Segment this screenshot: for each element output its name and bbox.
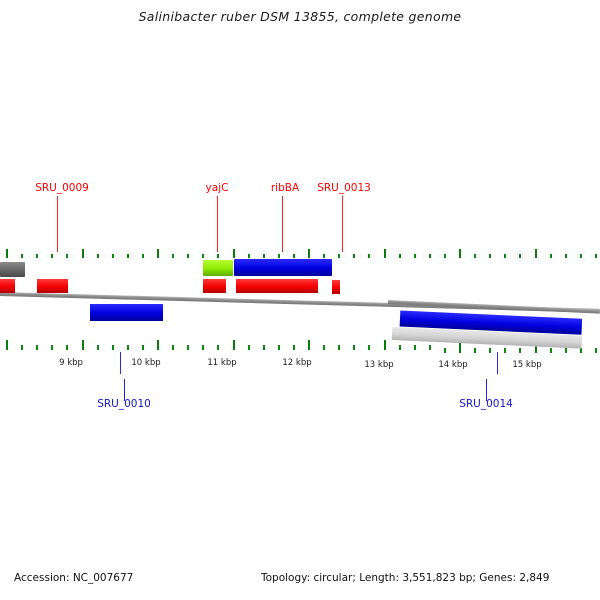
axis-tick-mark	[202, 345, 204, 350]
cds-arrow-forward[interactable]	[236, 279, 330, 293]
cds-arrow-reverse-body	[90, 304, 163, 321]
axis-tick-mark	[293, 254, 295, 258]
cds-arrow-forward-head	[68, 279, 77, 293]
axis-tick-mark	[323, 345, 325, 350]
cds-arrow-forward-body	[37, 279, 68, 293]
gene-label-top[interactable]: yajC	[206, 182, 229, 194]
axis-tick-mark	[323, 254, 325, 258]
cds-arrow-forward-body	[236, 279, 318, 293]
axis-tick-mark	[459, 343, 461, 353]
cds-arrow-forward-head	[15, 279, 22, 293]
cds-arrow-forward-body	[203, 279, 226, 293]
axis-cursor-line[interactable]	[497, 352, 498, 374]
gene-label-leader	[124, 379, 125, 401]
axis-tick-label: 14 kbp	[438, 360, 467, 370]
axis-tick-mark	[21, 345, 23, 350]
axis-tick-mark	[51, 345, 53, 350]
page-title: Salinibacter ruber DSM 13855, complete g…	[0, 9, 600, 24]
axis-tick-mark	[489, 348, 491, 353]
axis-tick-mark	[187, 345, 189, 350]
gene-label-leader	[342, 196, 343, 252]
gene-label-top[interactable]: SRU_0009	[35, 182, 89, 194]
gene-label-top[interactable]: SRU_0013	[317, 182, 371, 194]
axis-tick-label: 12 kbp	[282, 358, 311, 368]
axis-tick-mark	[248, 254, 250, 258]
axis-tick-mark	[489, 254, 491, 258]
axis-tick-mark	[595, 348, 597, 353]
axis-tick-mark	[82, 249, 84, 258]
axis-tick-mark	[233, 340, 235, 350]
axis-tick-mark	[172, 345, 174, 350]
axis-tick-mark	[97, 345, 99, 350]
axis-tick-label: 11 kbp	[207, 358, 236, 368]
axis-tick-mark	[97, 254, 99, 258]
axis-tick-mark	[66, 254, 68, 258]
axis-tick-mark	[353, 254, 355, 258]
axis-tick-mark	[157, 249, 159, 258]
axis-tick-label: 10 kbp	[131, 358, 160, 368]
axis-tick-mark	[278, 345, 280, 350]
axis-tick-mark	[519, 254, 521, 258]
gene-label-leader	[217, 196, 218, 252]
axis-tick-mark	[127, 345, 129, 350]
axis-tick-mark	[399, 254, 401, 258]
axis-tick-mark	[368, 254, 370, 258]
axis-tick-mark	[550, 348, 552, 353]
axis-tick-mark	[217, 345, 219, 350]
axis-tick-mark	[535, 249, 537, 258]
axis-tick-mark	[217, 254, 219, 258]
axis-tick-mark	[595, 254, 597, 258]
axis-tick-mark	[21, 254, 23, 258]
axis-tick-mark	[459, 249, 461, 258]
cds-arrow-forward[interactable]	[0, 279, 22, 293]
axis-tick-mark	[414, 345, 416, 350]
cds-arrow-forward-body	[332, 280, 340, 294]
axis-tick-mark	[474, 348, 476, 353]
accession-text: Accession: NC_007677	[14, 572, 133, 584]
genome-viewer: Salinibacter ruber DSM 13855, complete g…	[0, 0, 600, 600]
axis-tick-mark	[263, 254, 265, 258]
axis-tick-mark	[580, 348, 582, 353]
axis-tick-mark	[112, 254, 114, 258]
axis-tick-mark	[142, 254, 144, 258]
axis-tick-mark	[51, 254, 53, 258]
axis-tick-mark	[444, 254, 446, 258]
axis-tick-label: 15 kbp	[512, 360, 541, 370]
axis-tick-mark	[248, 345, 250, 350]
cds-arrow-forward-head	[340, 280, 346, 294]
cds-arrow-forward[interactable]	[37, 279, 77, 293]
axis-tick-mark	[384, 249, 386, 258]
axis-tick-mark	[368, 345, 370, 350]
gene-label-leader	[486, 379, 487, 401]
axis-tick-mark	[338, 345, 340, 350]
axis-tick-mark	[157, 340, 159, 350]
axis-tick-mark	[293, 345, 295, 350]
axis-tick-label: 13 kbp	[364, 360, 393, 370]
axis-tick-mark	[565, 348, 567, 353]
axis-tick-mark	[278, 254, 280, 258]
gene-label-leader	[282, 196, 283, 252]
axis-tick-mark	[112, 345, 114, 350]
axis-tick-mark	[6, 340, 8, 350]
axis-cursor-line[interactable]	[120, 352, 121, 374]
axis-tick-mark	[504, 348, 506, 353]
axis-tick-mark	[565, 254, 567, 258]
axis-tick-mark	[142, 345, 144, 350]
axis-tick-mark	[187, 254, 189, 258]
axis-tick-mark	[519, 348, 521, 353]
cds-arrow-forward-head	[318, 279, 330, 293]
gene-label-top[interactable]: ribBA	[271, 182, 299, 194]
axis-tick-mark	[414, 254, 416, 258]
axis-tick-mark	[444, 348, 446, 353]
genome-stats-text: Topology: circular; Length: 3,551,823 bp…	[261, 572, 549, 584]
axis-tick-mark	[263, 345, 265, 350]
axis-tick-mark	[36, 345, 38, 350]
cds-arrow-reverse-head	[388, 310, 401, 327]
axis-tick-mark	[127, 254, 129, 258]
axis-tick-mark	[550, 254, 552, 258]
cds-arrow-forward-head	[226, 279, 233, 293]
axis-tick-mark	[172, 254, 174, 258]
axis-tick-mark	[36, 254, 38, 258]
gene-feature-block[interactable]	[234, 259, 332, 276]
axis-tick-mark	[6, 249, 8, 258]
gene-feature-block[interactable]	[203, 260, 233, 276]
axis-tick-label: 9 kbp	[59, 358, 83, 368]
axis-tick-mark	[338, 254, 340, 258]
cds-arrow-forward[interactable]	[203, 279, 233, 293]
axis-tick-mark	[399, 345, 401, 350]
axis-tick-mark	[429, 345, 431, 350]
axis-tick-mark	[308, 340, 310, 350]
axis-tick-mark	[233, 249, 235, 258]
axis-tick-mark	[504, 254, 506, 258]
axis-tick-mark	[384, 340, 386, 350]
axis-tick-mark	[429, 254, 431, 258]
cds-arrow-forward-body	[0, 279, 15, 293]
axis-tick-mark	[308, 249, 310, 258]
axis-tick-mark	[82, 340, 84, 350]
cds-arrow-reverse[interactable]	[78, 304, 163, 321]
axis-tick-mark	[580, 254, 582, 258]
cds-arrow-reverse-head	[78, 304, 90, 321]
cds-arrow-forward[interactable]	[332, 280, 346, 294]
axis-tick-mark	[353, 345, 355, 350]
axis-tick-mark	[202, 254, 204, 258]
axis-tick-mark	[474, 254, 476, 258]
gene-feature-block[interactable]	[0, 262, 25, 277]
axis-tick-mark	[66, 345, 68, 350]
gene-label-leader	[57, 196, 58, 252]
